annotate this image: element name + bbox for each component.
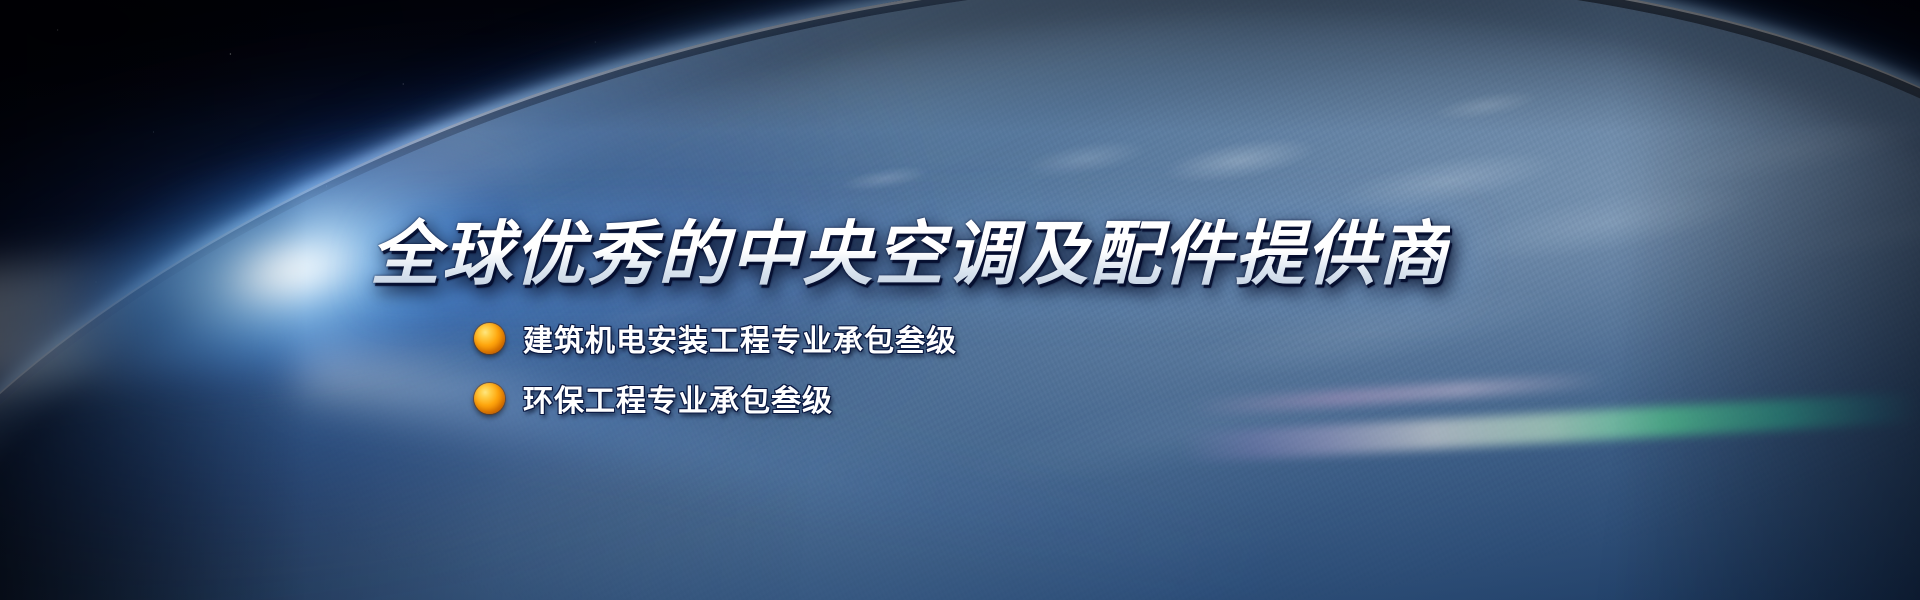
- banner-content: 全球优秀的中央空调及配件提供商 建筑机电安装工程专业承包叁级 环保工程专业承包叁…: [0, 0, 1920, 600]
- certification-list: 建筑机电安装工程专业承包叁级 环保工程专业承包叁级: [474, 310, 957, 430]
- hero-banner: 全球优秀的中央空调及配件提供商 建筑机电安装工程专业承包叁级 环保工程专业承包叁…: [0, 0, 1920, 600]
- list-item-label: 建筑机电安装工程专业承包叁级: [523, 316, 957, 360]
- list-item: 环保工程专业承包叁级: [474, 370, 957, 426]
- orange-dot-icon: [474, 323, 505, 354]
- list-item-label: 环保工程专业承包叁级: [523, 376, 833, 420]
- list-item: 建筑机电安装工程专业承包叁级: [474, 310, 957, 366]
- banner-headline: 全球优秀的中央空调及配件提供商: [370, 198, 1450, 299]
- orange-dot-icon: [474, 383, 505, 414]
